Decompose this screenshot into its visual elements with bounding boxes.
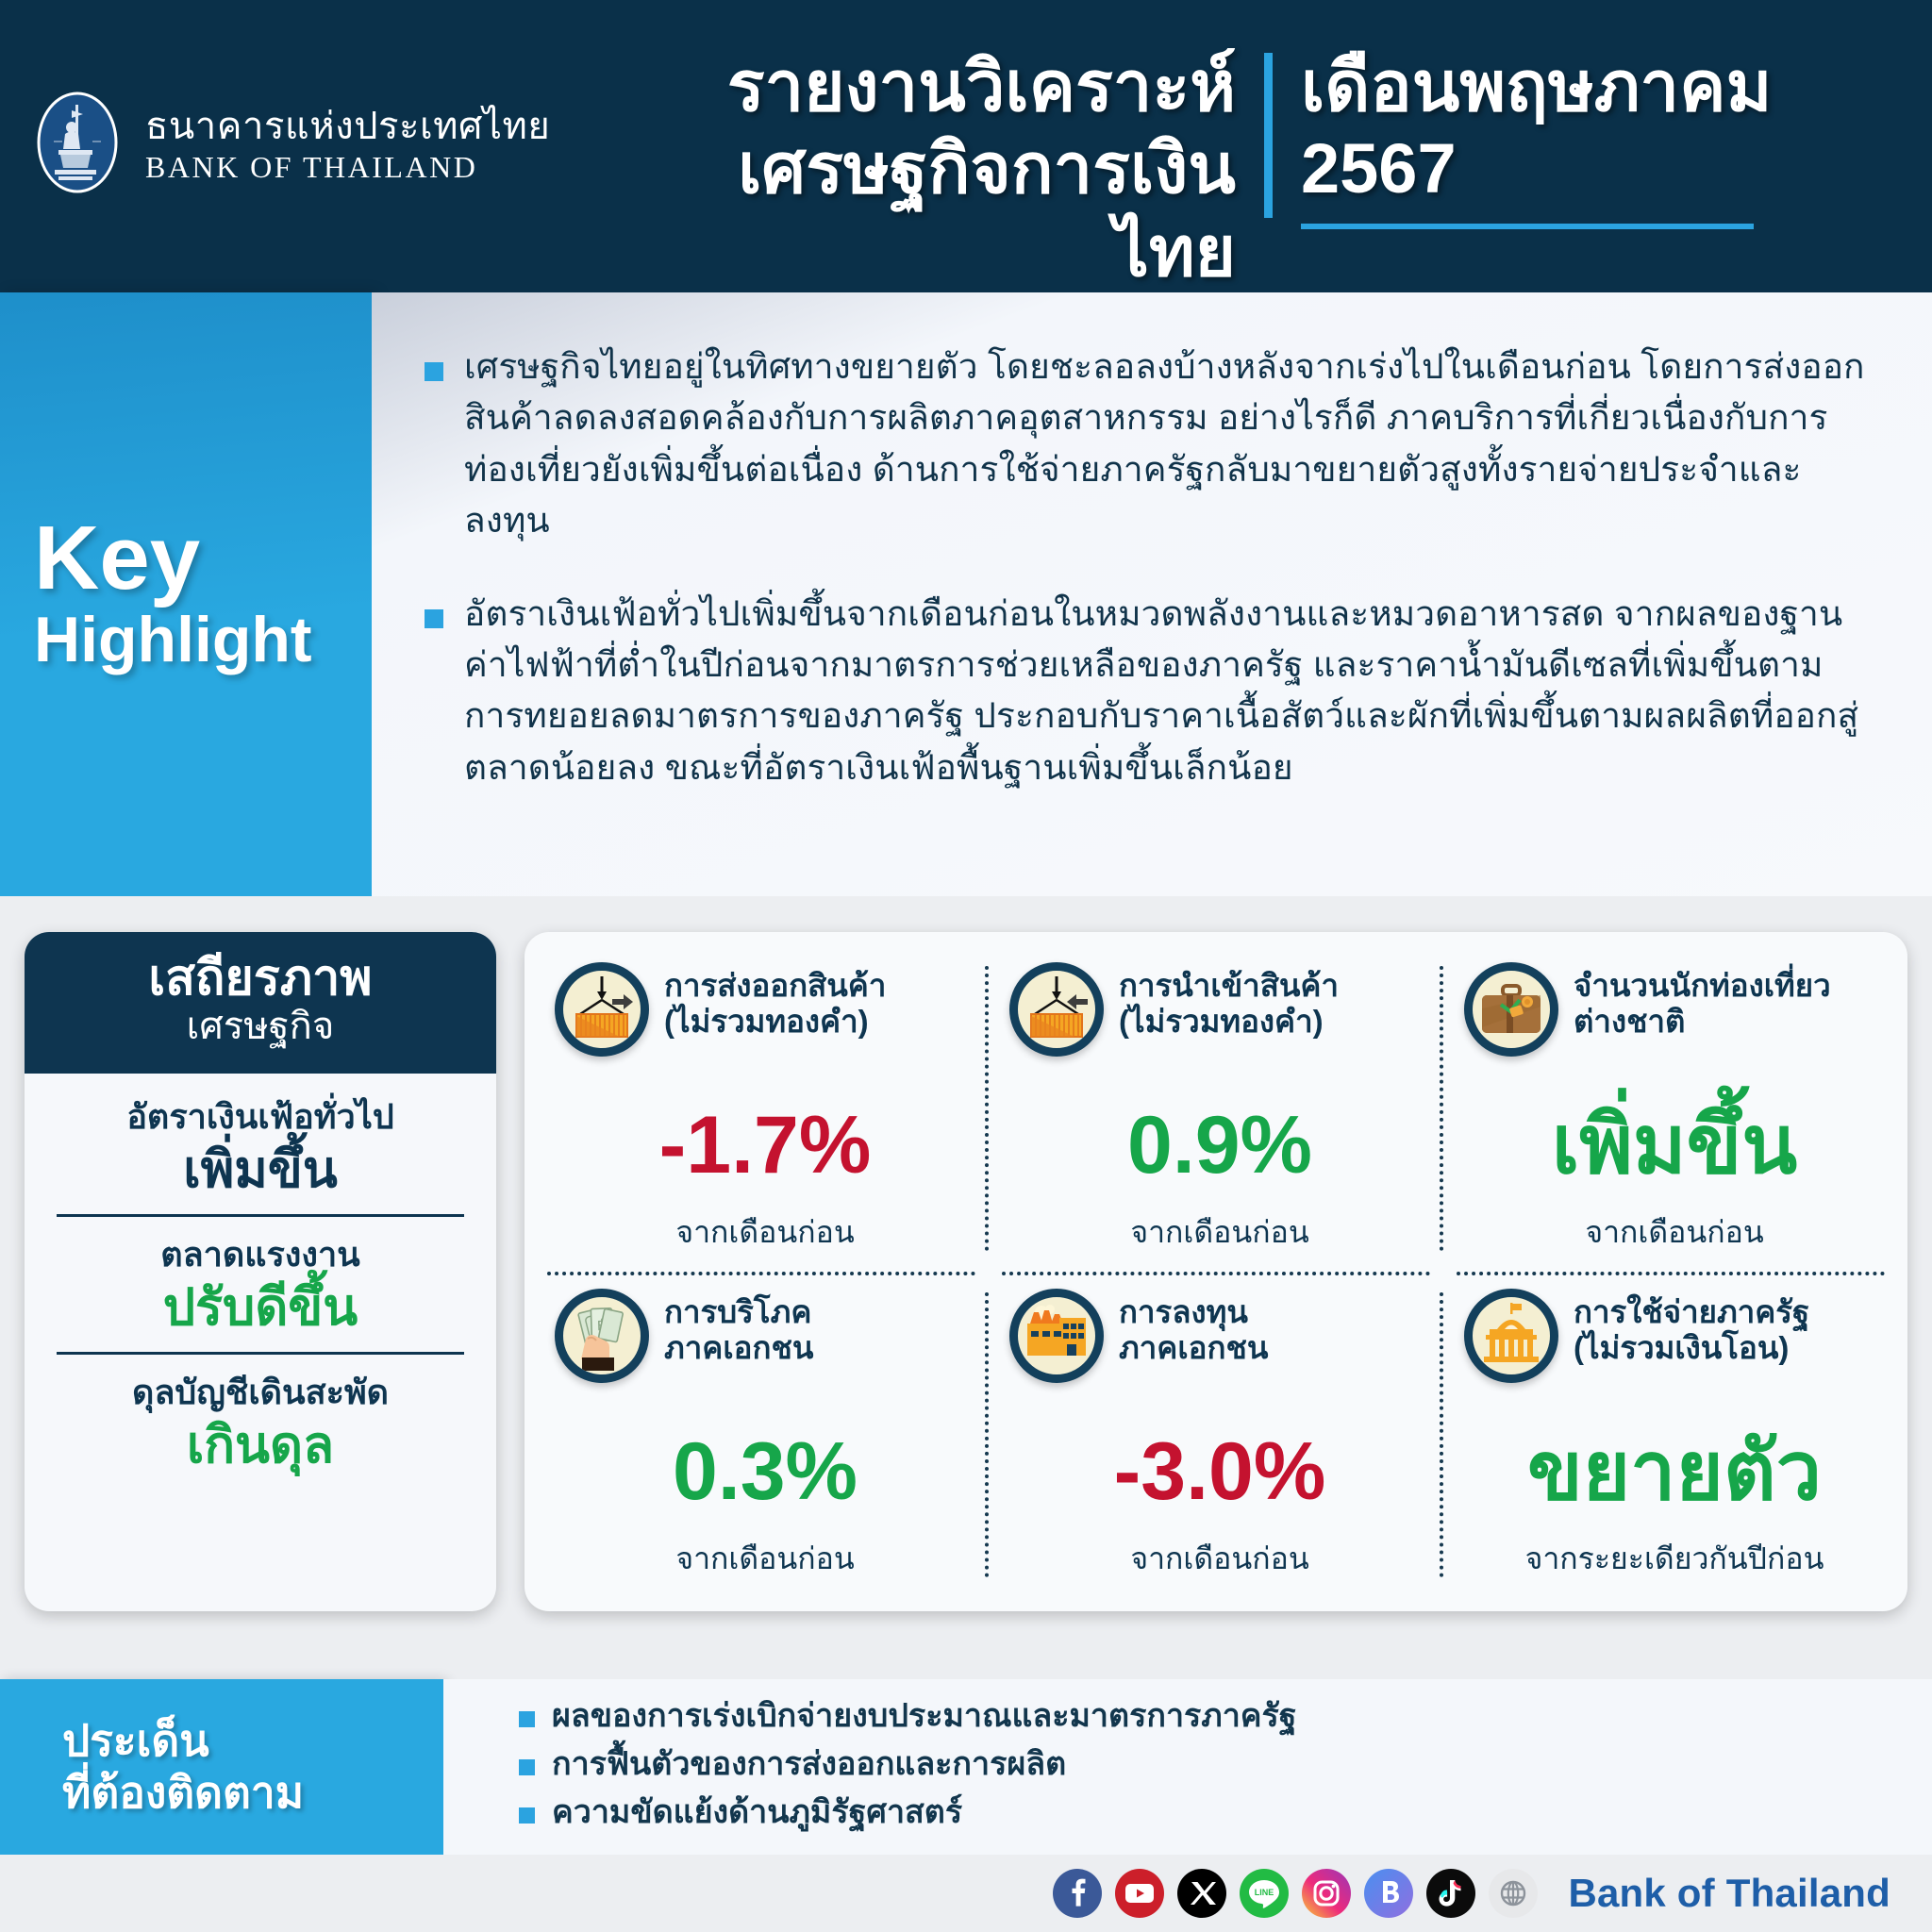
metric-value: 0.9%	[1009, 1081, 1430, 1208]
metric-title-line1: การส่งออกสินค้า	[664, 968, 886, 1004]
report-period: เดือนพฤษภาคม 2567	[1301, 45, 1791, 229]
bullet-square-icon	[519, 1807, 535, 1824]
key-highlight-text: เศรษฐกิจไทยอยู่ในทิศทางขยายตัว โดยชะลอลง…	[464, 341, 1875, 547]
watch-label-line1: ประเด็น	[62, 1715, 443, 1767]
metric-subtitle: จากระยะเดียวกันปีก่อน	[1464, 1535, 1885, 1589]
metric-title-line2: ภาคเอกชน	[664, 1330, 813, 1366]
metric-value: -3.0%	[1009, 1407, 1430, 1535]
metrics-grid: การส่งออกสินค้า (ไม่รวมทองคำ) -1.7% จากเ…	[525, 932, 1907, 1611]
metric-header: การส่งออกสินค้า (ไม่รวมทองคำ)	[555, 962, 975, 1057]
hand-money-icon: ฿	[555, 1289, 649, 1383]
stability-row: อัตราเงินเฟ้อทั่วไป เพิ่มขึ้น	[57, 1079, 464, 1214]
youtube-icon[interactable]	[1115, 1869, 1164, 1918]
report-title-block: รายงานวิเคราะห์ เศรษฐกิจการเงินไทย เดือน…	[660, 45, 1791, 292]
bot-seal-icon	[34, 90, 121, 203]
stability-row: ตลาดแรงงาน ปรับดีขึ้น	[57, 1214, 464, 1352]
watch-items-section: ประเด็น ที่ต้องติดตาม ผลของการเร่งเบิกจ่…	[0, 1679, 1932, 1855]
metric-title: จำนวนนักท่องเที่ยว ต่างชาติ	[1574, 962, 1831, 1040]
metric-cell-exports: การส่งออกสินค้า (ไม่รวมทองคำ) -1.7% จากเ…	[534, 945, 989, 1272]
stability-row-label: อัตราเงินเฟ้อทั่วไป	[57, 1096, 464, 1137]
report-period-month: เดือนพฤษภาคม	[1301, 45, 1791, 127]
bullet-square-icon	[425, 362, 443, 381]
metric-value: ขยายตัว	[1464, 1407, 1885, 1535]
economic-stability-card: เสถียรภาพ เศรษฐกิจ อัตราเงินเฟ้อทั่วไป เ…	[25, 932, 496, 1611]
metric-cell-private-consumption: ฿ การบริโภค ภาคเอกชน	[534, 1272, 989, 1598]
metric-cell-imports: การนำเข้าสินค้า (ไม่รวมทองคำ) 0.9% จากเด…	[989, 945, 1443, 1272]
metric-value: เพิ่มขึ้น	[1464, 1081, 1885, 1208]
bullet-square-icon	[519, 1711, 535, 1727]
key-highlight-label-top: Key	[34, 514, 200, 603]
metric-cell-government-spending: การใช้จ่ายภาครัฐ (ไม่รวมเงินโอน) ขยายตัว…	[1443, 1272, 1898, 1598]
svg-text:LINE: LINE	[1255, 1888, 1274, 1897]
bot-logo-english: BANK OF THAILAND	[145, 148, 550, 188]
bot-logo-thai: ธนาคารแห่งประเทศไทย	[145, 106, 550, 148]
metric-subtitle: จากเดือนก่อน	[1009, 1208, 1430, 1262]
report-title-line1: รายงานวิเคราะห์	[660, 45, 1236, 127]
metric-header: จำนวนนักท่องเที่ยว ต่างชาติ	[1464, 962, 1885, 1057]
blockdit-icon[interactable]	[1364, 1869, 1413, 1918]
watch-list-item: ผลของการเร่งเบิกจ่ายงบประมาณและมาตรการภา…	[519, 1696, 1932, 1736]
metric-title-line1: การลงทุน	[1119, 1294, 1268, 1330]
header-bar: ธนาคารแห่งประเทศไทย BANK OF THAILAND ราย…	[0, 0, 1932, 292]
watch-item-text: ความขัดแย้งด้านภูมิรัฐศาสตร์	[552, 1792, 962, 1832]
metric-title-line2: (ไม่รวมทองคำ)	[664, 1004, 886, 1040]
watch-list: ผลของการเร่งเบิกจ่ายงบประมาณและมาตรการภา…	[443, 1679, 1932, 1855]
metric-title-line2: (ไม่รวมทองคำ)	[1119, 1004, 1339, 1040]
footer-brand-name: Bank of Thailand	[1568, 1871, 1890, 1916]
suitcase-icon	[1464, 962, 1558, 1057]
bullet-square-icon	[519, 1759, 535, 1775]
watch-item-text: การฟื้นตัวของการส่งออกและการผลิต	[552, 1744, 1066, 1784]
stability-row: ดุลบัญชีเดินสะพัด เกินดุล	[57, 1352, 464, 1490]
stability-row-value: ปรับดีขึ้น	[57, 1278, 464, 1339]
stability-row-value: เกินดุล	[57, 1416, 464, 1476]
title-divider	[1264, 53, 1273, 218]
metric-title: การใช้จ่ายภาครัฐ (ไม่รวมเงินโอน)	[1574, 1289, 1809, 1366]
website-globe-icon[interactable]	[1489, 1869, 1538, 1918]
container-import-icon	[1009, 962, 1104, 1057]
economic-stability-header: เสถียรภาพ เศรษฐกิจ	[25, 932, 496, 1074]
key-highlight-label: Key Highlight	[0, 292, 372, 896]
key-highlight-content: เศรษฐกิจไทยอยู่ในทิศทางขยายตัว โดยชะลอลง…	[372, 292, 1932, 896]
facebook-icon[interactable]	[1053, 1869, 1102, 1918]
instagram-icon[interactable]	[1302, 1869, 1351, 1918]
metric-value: 0.3%	[555, 1407, 975, 1535]
metric-title-line1: การบริโภค	[664, 1294, 813, 1330]
report-title-line2: เศรษฐกิจการเงินไทย	[660, 127, 1236, 292]
metric-subtitle: จากเดือนก่อน	[1009, 1535, 1430, 1589]
footer-bar: LINE	[0, 1855, 1932, 1932]
stability-subtitle: เศรษฐกิจ	[34, 1005, 487, 1049]
key-highlight-text: อัตราเงินเฟ้อทั่วไปเพิ่มขึ้นจากเดือนก่อน…	[464, 589, 1875, 794]
stability-row-label: ตลาดแรงงาน	[57, 1234, 464, 1274]
key-highlight-bullet-item: เศรษฐกิจไทยอยู่ในทิศทางขยายตัว โดยชะลอลง…	[425, 341, 1875, 547]
main-content-section: เสถียรภาพ เศรษฐกิจ อัตราเงินเฟ้อทั่วไป เ…	[0, 896, 1932, 1679]
bot-logo-text: ธนาคารแห่งประเทศไทย BANK OF THAILAND	[145, 106, 550, 187]
watch-list-item: ความขัดแย้งด้านภูมิรัฐศาสตร์	[519, 1792, 1932, 1832]
metric-subtitle: จากเดือนก่อน	[555, 1208, 975, 1262]
stability-rows: อัตราเงินเฟ้อทั่วไป เพิ่มขึ้น ตลาดแรงงาน…	[25, 1074, 496, 1499]
metric-title-line1: การนำเข้าสินค้า	[1119, 968, 1339, 1004]
factory-icon	[1009, 1289, 1104, 1383]
watch-label: ประเด็น ที่ต้องติดตาม	[0, 1679, 443, 1855]
metric-title: การส่งออกสินค้า (ไม่รวมทองคำ)	[664, 962, 886, 1040]
period-underline	[1301, 224, 1754, 229]
container-export-icon	[555, 962, 649, 1057]
watch-label-line2: ที่ต้องติดตาม	[62, 1767, 443, 1819]
key-highlight-label-bottom: Highlight	[34, 607, 312, 674]
report-period-year: 2567	[1301, 127, 1791, 209]
stability-row-label: ดุลบัญชีเดินสะพัด	[57, 1372, 464, 1412]
watch-item-text: ผลของการเร่งเบิกจ่ายงบประมาณและมาตรการภา…	[552, 1696, 1297, 1736]
x-twitter-icon[interactable]	[1177, 1869, 1226, 1918]
government-building-icon	[1464, 1289, 1558, 1383]
metric-title: การนำเข้าสินค้า (ไม่รวมทองคำ)	[1119, 962, 1339, 1040]
metric-title-line2: (ไม่รวมเงินโอน)	[1574, 1330, 1809, 1366]
watch-list-item: การฟื้นตัวของการส่งออกและการผลิต	[519, 1744, 1932, 1784]
bot-logo: ธนาคารแห่งประเทศไทย BANK OF THAILAND	[34, 90, 619, 203]
key-highlight-bullet-item: อัตราเงินเฟ้อทั่วไปเพิ่มขึ้นจากเดือนก่อน…	[425, 589, 1875, 794]
metric-subtitle: จากเดือนก่อน	[555, 1535, 975, 1589]
report-title: รายงานวิเคราะห์ เศรษฐกิจการเงินไทย	[660, 45, 1236, 292]
metric-header: การลงทุน ภาคเอกชน	[1009, 1289, 1430, 1383]
metric-title-line1: จำนวนนักท่องเที่ยว	[1574, 968, 1831, 1004]
metric-header: การนำเข้าสินค้า (ไม่รวมทองคำ)	[1009, 962, 1430, 1057]
metric-cell-tourists: จำนวนนักท่องเที่ยว ต่างชาติ เพิ่มขึ้น จา…	[1443, 945, 1898, 1272]
metric-title: การลงทุน ภาคเอกชน	[1119, 1289, 1268, 1366]
metric-header: การใช้จ่ายภาครัฐ (ไม่รวมเงินโอน)	[1464, 1289, 1885, 1383]
metric-title-line1: การใช้จ่ายภาครัฐ	[1574, 1294, 1809, 1330]
bullet-square-icon	[425, 609, 443, 628]
tiktok-icon[interactable]	[1426, 1869, 1475, 1918]
infographic-page: ธนาคารแห่งประเทศไทย BANK OF THAILAND ราย…	[0, 0, 1932, 1932]
metric-title: การบริโภค ภาคเอกชน	[664, 1289, 813, 1366]
metric-title-line2: ภาคเอกชน	[1119, 1330, 1268, 1366]
stability-title: เสถียรภาพ	[34, 953, 487, 1005]
metric-subtitle: จากเดือนก่อน	[1464, 1208, 1885, 1262]
key-highlight-section: Key Highlight เศรษฐกิจไทยอยู่ในทิศทางขยา…	[0, 292, 1932, 896]
line-icon[interactable]: LINE	[1240, 1869, 1289, 1918]
metric-cell-private-investment: การลงทุน ภาคเอกชน -3.0% จากเดือนก่อน	[989, 1272, 1443, 1598]
metric-value: -1.7%	[555, 1081, 975, 1208]
stability-row-value: เพิ่มขึ้น	[57, 1141, 464, 1201]
metric-title-line2: ต่างชาติ	[1574, 1004, 1831, 1040]
metric-header: ฿ การบริโภค ภาคเอกชน	[555, 1289, 975, 1383]
